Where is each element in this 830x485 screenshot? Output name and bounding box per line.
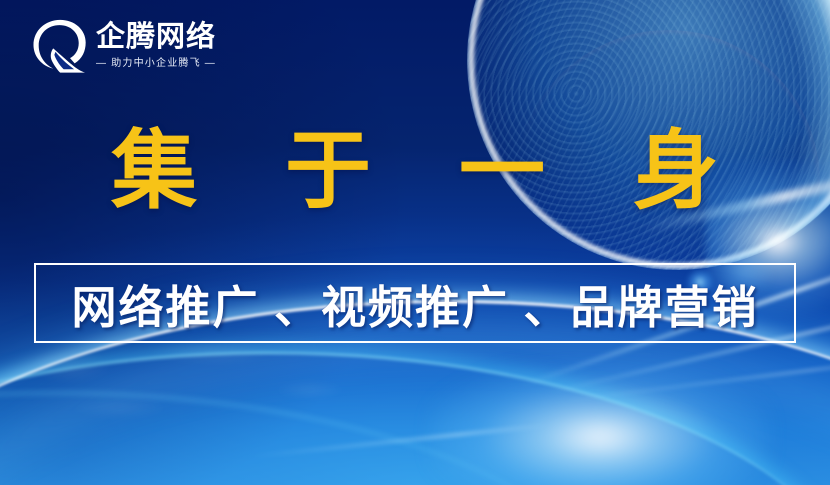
promo-banner: 企腾网络 — 助力中小企业腾飞 — 集 于 一 身 网络推广 、视频推广 、品牌… (0, 0, 830, 485)
brand-text-block: 企腾网络 — 助力中小企业腾飞 — (96, 23, 216, 69)
brand-logo[interactable]: 企腾网络 — 助力中小企业腾飞 — (30, 18, 216, 74)
subtitle-box: 网络推广 、视频推广 、品牌营销 (34, 263, 796, 343)
brand-tagline: — 助力中小企业腾飞 — (96, 59, 216, 69)
brand-name: 企腾网络 (96, 23, 216, 52)
page-title: 集 于 一 身 (0, 128, 830, 214)
subtitle-text: 网络推广 、视频推广 、品牌营销 (71, 271, 758, 336)
stylized-q-swoosh-icon (30, 18, 88, 74)
